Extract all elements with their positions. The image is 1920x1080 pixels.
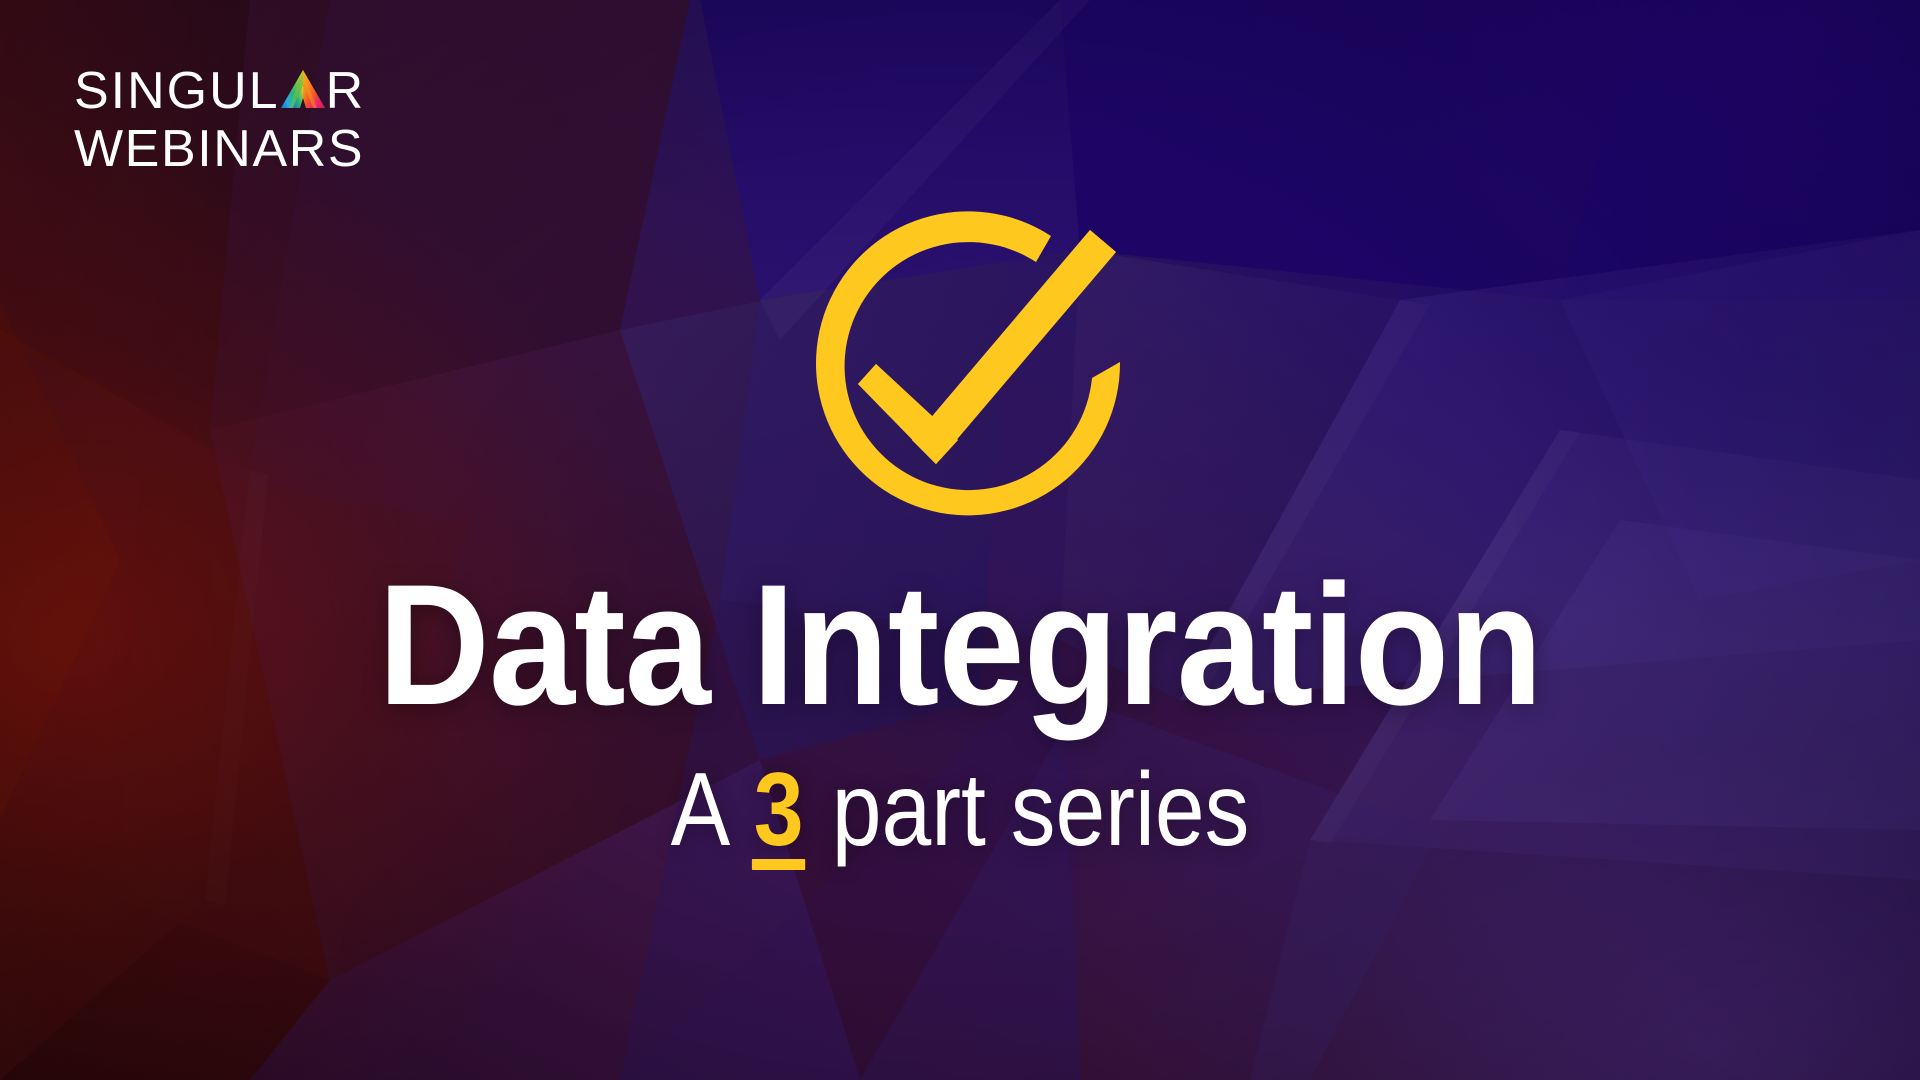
logo-text-singul: SINGUL	[74, 62, 280, 120]
singular-webinars-logo[interactable]: SINGUL	[74, 62, 494, 178]
promo-banner: SINGUL	[0, 0, 1920, 1080]
logo-text-r: R	[326, 62, 366, 120]
logo-text-webinars: WEBINARS	[74, 120, 364, 178]
subtitle-suffix: part series	[832, 752, 1250, 868]
rainbow-triangle-icon	[280, 69, 326, 109]
circle-check-icon	[798, 196, 1146, 544]
page-title: Data Integration	[96, 556, 1824, 734]
series-count-badge: 3	[750, 752, 807, 868]
series-subtitle: A 3 part series	[134, 752, 1785, 868]
logo-line-singular: SINGUL	[74, 62, 494, 120]
headline-container: Data Integration	[0, 556, 1920, 734]
subtitle-prefix: A	[671, 752, 726, 868]
subhead-container: A 3 part series	[0, 752, 1920, 868]
logo-line-webinars: WEBINARS	[74, 120, 494, 178]
